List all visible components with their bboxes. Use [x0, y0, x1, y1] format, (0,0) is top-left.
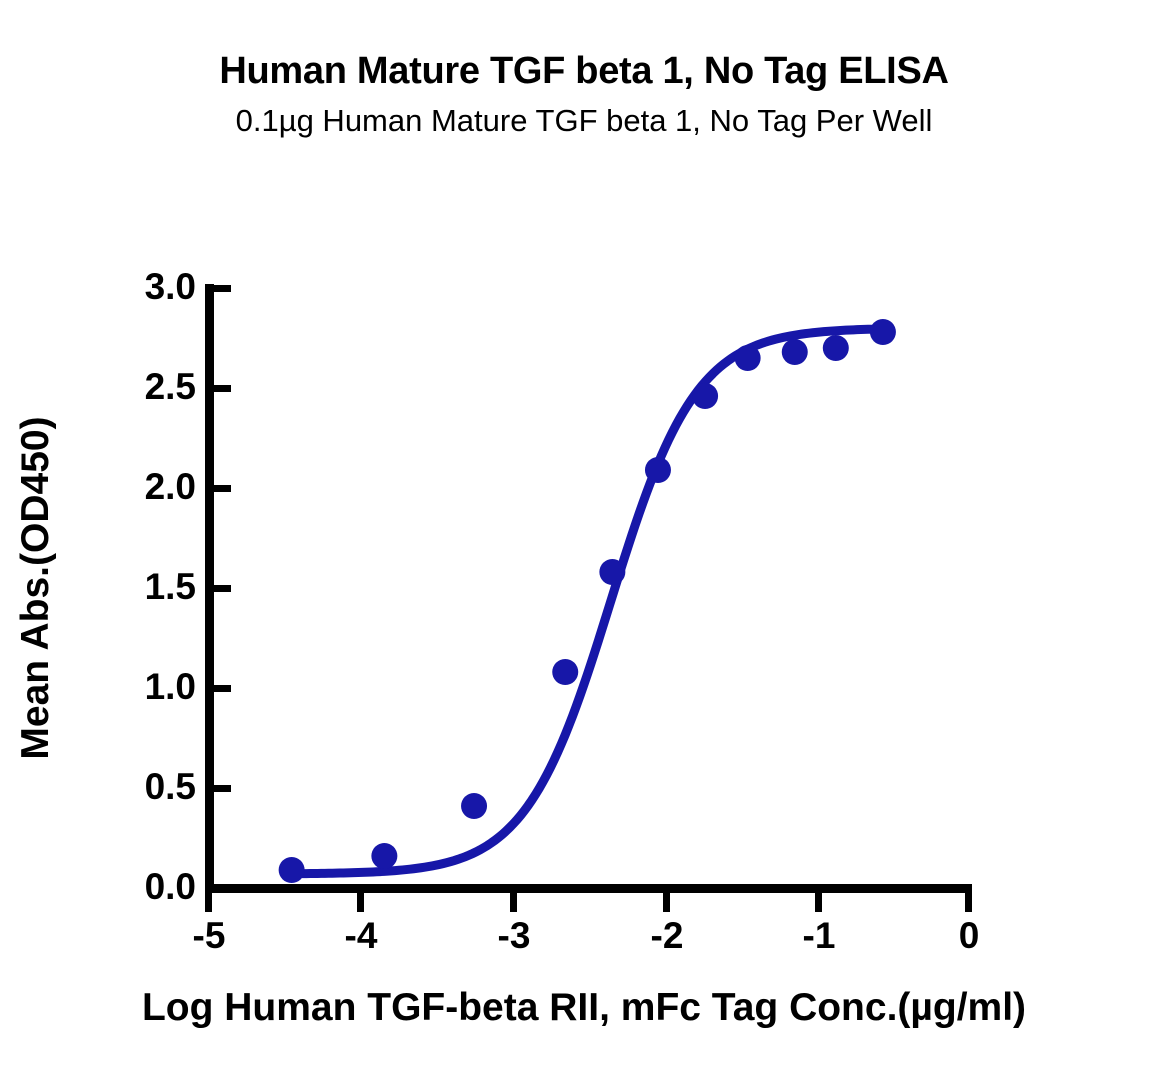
- x-tick: [510, 893, 517, 912]
- data-point: [692, 383, 718, 409]
- title-block: Human Mature TGF beta 1, No Tag ELISA 0.…: [0, 48, 1168, 141]
- y-tick-label: 3.0: [0, 266, 196, 308]
- data-point: [279, 857, 305, 883]
- data-point: [461, 793, 487, 819]
- fit-curve: [292, 329, 883, 874]
- x-tick-label: -2: [627, 915, 707, 957]
- chart-figure: Human Mature TGF beta 1, No Tag ELISA 0.…: [0, 0, 1168, 1086]
- x-tick: [965, 893, 972, 912]
- x-axis-title: Log Human TGF-beta RII, mFc Tag Conc.(µg…: [0, 986, 1168, 1030]
- x-tick: [357, 893, 364, 912]
- y-axis-line: [205, 284, 214, 892]
- y-tick-label: 0.0: [0, 866, 196, 908]
- chart-title: Human Mature TGF beta 1, No Tag ELISA: [0, 48, 1168, 94]
- x-tick: [205, 893, 212, 912]
- y-tick: [214, 285, 231, 292]
- chart-subtitle: 0.1µg Human Mature TGF beta 1, No Tag Pe…: [0, 101, 1168, 141]
- x-axis-line: [205, 884, 972, 893]
- x-tick: [815, 893, 822, 912]
- y-axis-title: Mean Abs.(OD450): [14, 308, 58, 868]
- x-tick: [663, 893, 670, 912]
- x-tick-label: -3: [474, 915, 554, 957]
- y-tick: [214, 485, 231, 492]
- x-tick-label: -5: [169, 915, 249, 957]
- x-tick-label: 0: [929, 915, 1009, 957]
- data-point: [823, 335, 849, 361]
- y-tick: [214, 685, 231, 692]
- y-tick: [214, 785, 231, 792]
- y-tick: [214, 385, 231, 392]
- data-point: [870, 319, 896, 345]
- y-tick: [214, 585, 231, 592]
- data-point: [645, 457, 671, 483]
- data-point: [371, 843, 397, 869]
- data-point: [735, 345, 761, 371]
- data-point: [782, 339, 808, 365]
- x-tick-label: -4: [321, 915, 401, 957]
- data-point: [599, 559, 625, 585]
- data-point-group: [279, 319, 896, 883]
- x-tick-label: -1: [779, 915, 859, 957]
- y-tick: [214, 885, 231, 892]
- data-point: [552, 659, 578, 685]
